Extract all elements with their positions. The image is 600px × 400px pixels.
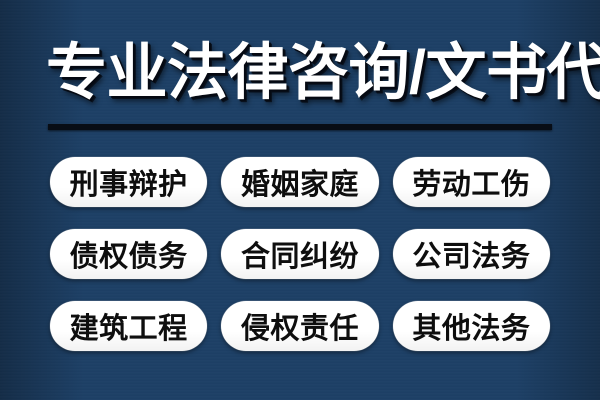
service-row: 建筑工程 侵权责任 其他法务 [50,301,550,351]
service-category-grid: 刑事辩护 婚姻家庭 劳动工伤 债权债务 合同纠纷 公司法务 建筑工程 侵权责任 … [50,157,550,351]
service-pill-marriage-family[interactable]: 婚姻家庭 [221,157,378,207]
service-pill-tort-liability[interactable]: 侵权责任 [221,301,378,351]
service-pill-corporate-legal[interactable]: 公司法务 [393,229,550,279]
promo-poster: 专业法律咨询/文书代写 刑事辩护 婚姻家庭 劳动工伤 债权债务 合同纠纷 公司法… [0,0,600,400]
service-pill-creditor-debt[interactable]: 债权债务 [50,229,207,279]
title-divider [48,124,552,130]
service-pill-criminal-defense[interactable]: 刑事辩护 [50,157,207,207]
service-row: 刑事辩护 婚姻家庭 劳动工伤 [50,157,550,207]
service-pill-other-legal[interactable]: 其他法务 [393,301,550,351]
service-pill-labor-injury[interactable]: 劳动工伤 [393,157,550,207]
service-pill-contract-dispute[interactable]: 合同纠纷 [221,229,378,279]
service-pill-construction-engineering[interactable]: 建筑工程 [50,301,207,351]
page-title: 专业法律咨询/文书代写 [46,30,556,114]
service-row: 债权债务 合同纠纷 公司法务 [50,229,550,279]
